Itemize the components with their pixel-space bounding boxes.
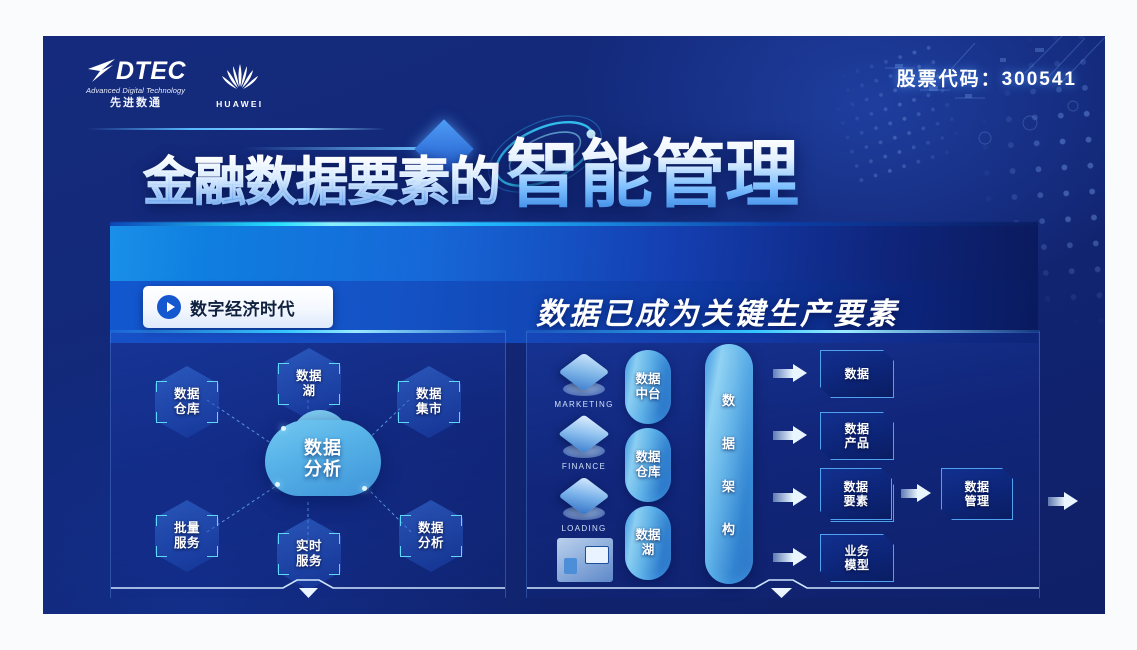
node-label-wrap: 数据仓库 [155, 366, 219, 438]
panel-bottom-chevron-left [111, 576, 505, 600]
stock-code: 股票代码：300541 [897, 64, 1077, 91]
pill-text: 数据湖 [635, 528, 660, 558]
arch-char-3: 构 [722, 519, 736, 538]
result-arrow-2 [901, 484, 931, 502]
source-label-loading: LOADING [544, 524, 624, 533]
data-analysis-cloud[interactable]: 数据 分析 [265, 420, 381, 496]
node-label-wrap: 批量服务 [155, 500, 219, 572]
section-badge-label: 数字经济时代 [190, 295, 295, 320]
pill-text: 数据仓库 [635, 450, 660, 480]
obox-text: 数据要素 [843, 480, 868, 509]
title-block: 金融数据要素的智能管理 [43, 118, 1105, 228]
play-icon [157, 295, 181, 319]
panel-top-glow [526, 330, 1040, 333]
result-data-governance[interactable]: 数据管理 [941, 468, 1013, 520]
obox-text: 数据产品 [844, 422, 869, 451]
logo-row: DTEC Advanced Digital Technology 先进数通 HU… [86, 58, 263, 109]
title-part-2: 智能管理 [506, 132, 798, 218]
output-data[interactable]: 数据 [820, 350, 894, 398]
cloud-label-line2: 分析 [304, 459, 342, 479]
dtec-arrow-icon [86, 58, 116, 84]
flow-arrow-4 [773, 548, 807, 566]
flow-arrow-3 [773, 488, 807, 506]
pill-text: 数据中台 [635, 372, 660, 402]
hex-text: 数据仓库 [174, 387, 200, 417]
dtec-mark: DTEC [86, 58, 186, 84]
output-data-product[interactable]: 数据产品 [820, 412, 894, 460]
node-label-wrap: 数据集市 [397, 366, 461, 438]
node-data-warehouse[interactable]: 数据仓库 [155, 366, 219, 438]
arch-char-0: 数 [722, 390, 736, 409]
data-architecture-pillar[interactable]: 数 据 架 构 [705, 344, 753, 584]
obox-text: 数据管理 [964, 480, 989, 509]
huawei-wordmark: HUAWEI [216, 99, 263, 109]
page-title: 金融数据要素的智能管理 [143, 138, 798, 212]
source-label-finance: FINANCE [544, 462, 624, 471]
loading-icon [561, 476, 607, 522]
pill-data-warehouse[interactable]: 数据仓库 [625, 428, 671, 502]
huawei-logo: HUAWEI [216, 62, 263, 109]
arch-char-1: 据 [722, 433, 736, 452]
dtec-tagline: Advanced Digital Technology [86, 87, 186, 95]
data-architecture-panel: MARKETING FINANCE LOADING 数据中台 数据仓库 数据湖 … [526, 332, 1040, 598]
pill-data-lake[interactable]: 数据湖 [625, 506, 671, 580]
obox-text: 业务模型 [844, 544, 869, 573]
finance-icon [561, 414, 607, 460]
hex-text: 数据分析 [418, 521, 444, 551]
node-data-analytics[interactable]: 数据分析 [399, 500, 463, 572]
title-part-1: 金融数据要素的 [143, 153, 500, 213]
node-label-wrap: 数据分析 [399, 500, 463, 572]
panel-bottom-chevron-right [527, 576, 1039, 600]
cloud-label: 数据 分析 [265, 438, 381, 479]
data-analysis-panel: 数据仓库 数据湖 数据集市 批量服务 实时服务 [110, 332, 506, 598]
dtec-wordmark: DTEC [116, 59, 186, 84]
result-data-element[interactable]: 数据要素 [820, 468, 892, 520]
hex-text: 实时服务 [296, 539, 322, 569]
hex-text: 批量服务 [174, 521, 200, 551]
node-data-lake[interactable]: 数据湖 [277, 348, 341, 420]
cloud-label-line1: 数据 [304, 438, 342, 458]
hex-text: 数据湖 [296, 369, 322, 399]
marketing-icon [561, 352, 607, 398]
node-label-wrap: 数据湖 [277, 348, 341, 420]
slide-canvas: DTEC Advanced Digital Technology 先进数通 HU… [43, 36, 1105, 614]
pill-data-midplatform[interactable]: 数据中台 [625, 350, 671, 424]
dtec-chinese-name: 先进数通 [86, 98, 186, 109]
arch-char-2: 架 [722, 476, 736, 495]
huawei-flower-icon [219, 62, 261, 92]
node-data-mart[interactable]: 数据集市 [397, 366, 461, 438]
dtec-logo: DTEC Advanced Digital Technology 先进数通 [86, 58, 186, 109]
obox-text: 数据 [844, 367, 869, 381]
output-business-model[interactable]: 业务模型 [820, 534, 894, 582]
section-badge[interactable]: 数字经济时代 [143, 286, 333, 328]
flow-arrow-1 [773, 364, 807, 382]
section-headline: 数据已成为关键生产要素 [536, 289, 899, 333]
node-batch-service[interactable]: 批量服务 [155, 500, 219, 572]
result-arrow-1 [1048, 492, 1078, 510]
flow-arrow-2 [773, 426, 807, 444]
source-label-marketing: MARKETING [544, 400, 624, 409]
hex-text: 数据集市 [416, 387, 442, 417]
